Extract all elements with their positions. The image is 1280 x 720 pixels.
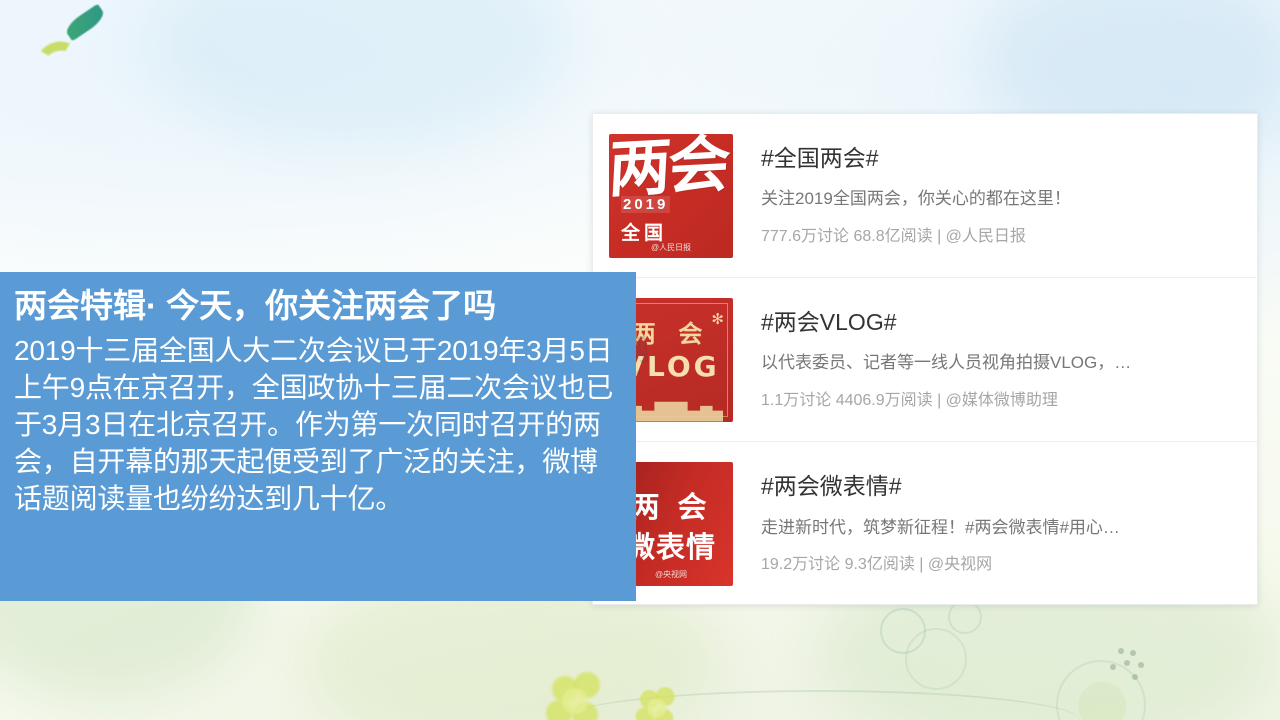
leaf-icon-dark	[63, 4, 107, 42]
topic-card-lianghui-weibiaoqing[interactable]: 两 会 微表情 @央视网 #两会微表情# 走进新时代，筑梦新征程！#两会微表情#…	[593, 442, 1257, 606]
weibo-topic-panel: 两会 2019 全国 @人民日报 #全国两会# 关注2019全国两会，你关心的都…	[592, 113, 1258, 605]
swirl-decor-2	[905, 628, 967, 690]
thumbnail-calligraphy-text: 两会	[609, 134, 729, 197]
thumbnail-watermark-label: @人民日报	[609, 242, 733, 253]
topic-title[interactable]: #两会微表情#	[761, 472, 1239, 501]
topic-card-quanguo-lianghui[interactable]: 两会 2019 全国 @人民日报 #全国两会# 关注2019全国两会，你关心的都…	[593, 114, 1257, 278]
topic-card-body: #两会微表情# 走进新时代，筑梦新征程！#两会微表情#用心… 19.2万讨论 9…	[733, 472, 1239, 576]
caption-panel: 两会特辑· 今天，你关注两会了吗 2019十三届全国人大二次会议已于2019年3…	[0, 272, 636, 601]
topic-description: 关注2019全国两会，你关心的都在这里！	[761, 188, 1239, 210]
topic-thumbnail-image: 两会 2019 全国 @人民日报	[609, 134, 733, 258]
slide-canvas: 两会 2019 全国 @人民日报 #全国两会# 关注2019全国两会，你关心的都…	[0, 0, 1280, 720]
thumbnail-year-label: 2019	[621, 196, 670, 213]
topic-card-lianghui-vlog[interactable]: ✻ 两 会 VLOG #两会VLOG# 以代表委员、记者等一线人员视角拍摄VLO…	[593, 278, 1257, 442]
caption-title: 两会特辑· 今天，你关注两会了吗	[14, 288, 622, 325]
topic-title[interactable]: #两会VLOG#	[761, 308, 1239, 337]
topic-card-body: #两会VLOG# 以代表委员、记者等一线人员视角拍摄VLOG，… 1.1万讨论 …	[733, 308, 1239, 412]
topic-title[interactable]: #全国两会#	[761, 144, 1239, 173]
topic-card-body: #全国两会# 关注2019全国两会，你关心的都在这里！ 777.6万讨论 68.…	[733, 144, 1239, 248]
topic-stats: 777.6万讨论 68.8亿阅读 | @人民日报	[761, 227, 1239, 248]
background-blob-top-left	[150, 0, 570, 150]
thumbnail-subtitle-label: 全国	[621, 218, 667, 245]
topic-description: 以代表委员、记者等一线人员视角拍摄VLOG，…	[761, 352, 1239, 374]
topic-description: 走进新时代，筑梦新征程！#两会微表情#用心…	[761, 517, 1239, 539]
topic-stats: 1.1万讨论 4406.9万阅读 | @媒体微博助理	[761, 391, 1239, 412]
caption-body: 2019十三届全国人大二次会议已于2019年3月5日上午9点在京召开，全国政协十…	[14, 333, 622, 518]
topic-stats: 19.2万讨论 9.3亿阅读 | @央视网	[761, 555, 1239, 576]
leaf-icon-light	[35, 37, 81, 76]
